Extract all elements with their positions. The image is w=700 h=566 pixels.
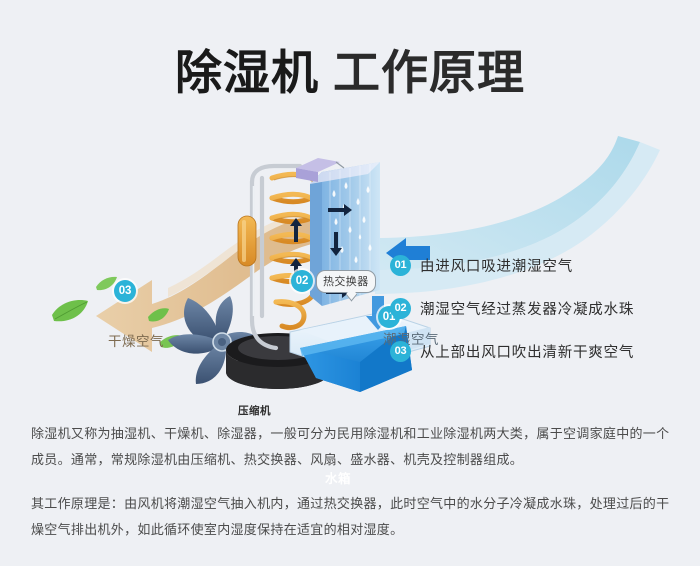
heat-exchanger-callout: 热交换器 [316, 270, 376, 293]
infographic-page: 除湿机工作原理 [0, 0, 700, 566]
list-item: 01 由进风口吸进潮湿空气 [390, 252, 690, 278]
step-text: 从上部出风口吹出清新干爽空气 [420, 341, 634, 362]
page-title-part2: 工作原理 [333, 46, 525, 99]
step-badge: 02 [390, 298, 411, 319]
step-badge: 01 [390, 255, 411, 276]
steps-list: 01 由进风口吸进潮湿空气 02 潮湿空气经过蒸发器冷凝成水珠 03 从上部出风… [390, 252, 690, 381]
compressor-label: 压缩机 [238, 403, 271, 418]
dry-air-label: 干燥空气 [108, 330, 164, 350]
list-item: 02 潮湿空气经过蒸发器冷凝成水珠 [390, 295, 690, 321]
description-section: 除湿机又称为抽湿机、干燥机、除湿器，一般可分为民用除湿机和工业除湿机两大类，属于… [31, 421, 676, 561]
callout-leader [336, 162, 344, 168]
leaf-icon [52, 300, 88, 321]
badge-heat-exchanger: 02 [291, 270, 313, 292]
list-item: 03 从上部出风口吹出清新干爽空气 [390, 338, 690, 364]
page-title-part1: 除湿机 [175, 46, 319, 99]
step-badge: 03 [390, 341, 411, 362]
paragraph-principle: 其工作原理是：由风机将潮湿空气抽入机内，通过热交换器，此时空气中的水分子冷凝成水… [31, 491, 676, 543]
paragraph-definition: 除湿机又称为抽湿机、干燥机、除湿器，一般可分为民用除湿机和工业除湿机两大类，属于… [31, 421, 676, 473]
compressor-unit [238, 216, 256, 266]
badge-dry-air: 03 [114, 280, 136, 302]
step-text: 由进风口吸进潮湿空气 [420, 255, 573, 276]
page-title: 除湿机工作原理 [0, 34, 700, 103]
step-text: 潮湿空气经过蒸发器冷凝成水珠 [420, 298, 634, 319]
